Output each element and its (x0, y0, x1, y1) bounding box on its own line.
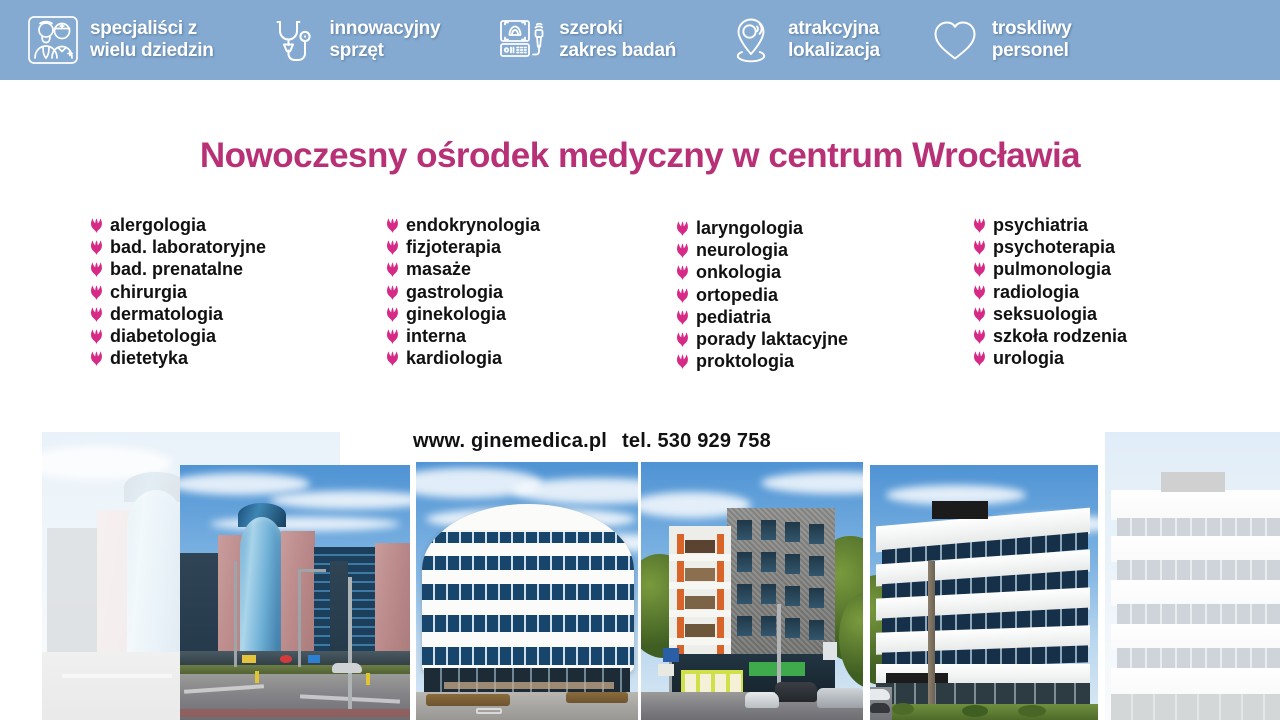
tulip-bullet-icon (386, 218, 399, 233)
list-item[interactable]: chirurgia (90, 281, 386, 303)
tulip-bullet-icon (973, 329, 986, 344)
list-item-label: fizjoterapia (406, 236, 501, 258)
list-item[interactable]: masaże (386, 258, 676, 280)
list-item-label: psychoterapia (993, 236, 1115, 258)
tulip-bullet-icon (676, 265, 689, 280)
list-item[interactable]: kardiologia (386, 347, 676, 369)
list-item[interactable]: proktologia (676, 350, 973, 372)
feature-item-lokalizacja[interactable]: atrakcyjna lokalizacja (724, 13, 880, 67)
list-item[interactable]: dermatologia (90, 303, 386, 325)
list-item[interactable]: porady laktacyjne (676, 328, 973, 350)
feature-item-personel[interactable]: troskliwy personel (928, 13, 1072, 67)
tulip-bullet-icon (676, 354, 689, 369)
specialties-column: laryngologia neurologia onkologia ortope… (676, 214, 973, 373)
contact-overlay: www. ginemedica.pl tel. 530 929 758 (343, 425, 813, 457)
pink-glass-office-building[interactable] (180, 465, 410, 720)
list-item[interactable]: ortopedia (676, 284, 973, 306)
tulip-bullet-icon (386, 240, 399, 255)
feature-item-label: atrakcyjna lokalizacja (788, 18, 880, 63)
list-item-label: dermatologia (110, 303, 223, 325)
list-item-label: radiologia (993, 281, 1079, 303)
list-item-label: neurologia (696, 239, 788, 261)
list-item[interactable]: endokrynologia (386, 214, 676, 236)
tulip-bullet-icon (973, 285, 986, 300)
page-title: Nowoczesny ośrodek medyczny w centrum Wr… (0, 136, 1280, 176)
list-item-label: pediatria (696, 306, 771, 328)
stethoscope-icon (266, 13, 320, 67)
tulip-bullet-icon (973, 218, 986, 233)
feature-banner: specjaliści z wielu dziedzin innowacyjny… (0, 0, 1280, 80)
white-modern-clinic-building-faded (1105, 432, 1280, 720)
building-photo-strip (0, 425, 1280, 720)
tulip-bullet-icon (90, 329, 103, 344)
feature-item-label: innowacyjny sprzęt (330, 18, 441, 63)
list-item[interactable]: neurologia (676, 239, 973, 261)
list-item-label: psychiatria (993, 214, 1088, 236)
tulip-bullet-icon (386, 285, 399, 300)
tulip-bullet-icon (90, 262, 103, 277)
list-item-label: bad. prenatalne (110, 258, 243, 280)
specialties-list: alergologia bad. laboratoryjne bad. pren… (90, 214, 1210, 373)
list-item[interactable]: pulmonologia (973, 258, 1210, 280)
tulip-bullet-icon (90, 285, 103, 300)
list-item[interactable]: bad. laboratoryjne (90, 236, 386, 258)
list-item-label: seksuologia (993, 303, 1097, 325)
list-item-label: laryngologia (696, 217, 803, 239)
list-item[interactable]: laryngologia (676, 217, 973, 239)
list-item[interactable]: bad. prenatalne (90, 258, 386, 280)
two-doctors-icon (26, 13, 80, 67)
feature-item-sprzet[interactable]: innowacyjny sprzęt (266, 13, 441, 67)
list-item-label: masaże (406, 258, 471, 280)
specialties-column: alergologia bad. laboratoryjne bad. pren… (90, 214, 386, 373)
tulip-bullet-icon (90, 218, 103, 233)
specialties-column: endokrynologia fizjoterapia masaże gastr… (386, 214, 676, 373)
list-item[interactable]: alergologia (90, 214, 386, 236)
list-item[interactable]: psychiatria (973, 214, 1210, 236)
list-item-label: alergologia (110, 214, 206, 236)
white-rounded-ovo-building[interactable] (416, 462, 638, 720)
list-item-label: proktologia (696, 350, 794, 372)
list-item-label: ortopedia (696, 284, 778, 306)
list-item-label: dietetyka (110, 347, 188, 369)
feature-item-label: szeroki zakres badań (559, 18, 676, 63)
list-item-label: pulmonologia (993, 258, 1111, 280)
list-item-label: interna (406, 325, 466, 347)
list-item-label: onkologia (696, 261, 781, 283)
tulip-bullet-icon (676, 332, 689, 347)
list-item-label: endokrynologia (406, 214, 540, 236)
list-item-label: gastrologia (406, 281, 503, 303)
list-item-label: diabetologia (110, 325, 216, 347)
ultrasound-machine-icon (495, 13, 549, 67)
heart-icon (928, 13, 982, 67)
list-item[interactable]: seksuologia (973, 303, 1210, 325)
tulip-bullet-icon (386, 351, 399, 366)
tulip-bullet-icon (676, 221, 689, 236)
list-item[interactable]: psychoterapia (973, 236, 1210, 258)
list-item[interactable]: interna (386, 325, 676, 347)
list-item[interactable]: gastrologia (386, 281, 676, 303)
phone-text[interactable]: tel. 530 929 758 (614, 425, 813, 457)
list-item-label: chirurgia (110, 281, 187, 303)
list-item[interactable]: urologia (973, 347, 1210, 369)
list-item[interactable]: pediatria (676, 306, 973, 328)
list-item-label: kardiologia (406, 347, 502, 369)
feature-item-label: specjaliści z wielu dziedzin (90, 18, 214, 63)
tulip-bullet-icon (973, 351, 986, 366)
tulip-bullet-icon (386, 262, 399, 277)
tulip-bullet-icon (90, 307, 103, 322)
location-pin-icon (724, 13, 778, 67)
list-item[interactable]: fizjoterapia (386, 236, 676, 258)
tulip-bullet-icon (676, 243, 689, 258)
list-item[interactable]: diabetologia (90, 325, 386, 347)
feature-item-specjalisci[interactable]: specjaliści z wielu dziedzin (26, 13, 214, 67)
list-item[interactable]: dietetyka (90, 347, 386, 369)
feature-item-label: troskliwy personel (992, 18, 1072, 63)
list-item[interactable]: onkologia (676, 261, 973, 283)
list-item-label: szkoła rodzenia (993, 325, 1127, 347)
tulip-bullet-icon (676, 288, 689, 303)
list-item[interactable]: szkoła rodzenia (973, 325, 1210, 347)
tulip-bullet-icon (676, 310, 689, 325)
tulip-bullet-icon (90, 351, 103, 366)
tulip-bullet-icon (973, 262, 986, 277)
list-item-label: ginekologia (406, 303, 506, 325)
tulip-bullet-icon (386, 329, 399, 344)
tulip-bullet-icon (386, 307, 399, 322)
tulip-bullet-icon (973, 307, 986, 322)
specialties-column: psychiatria psychoterapia pulmonologia r… (973, 214, 1210, 373)
poster-page: specjaliści z wielu dziedzin innowacyjny… (0, 0, 1280, 720)
list-item[interactable]: ginekologia (386, 303, 676, 325)
tulip-bullet-icon (90, 240, 103, 255)
white-modern-clinic-building[interactable] (870, 465, 1098, 720)
feature-item-zakres-badan[interactable]: szeroki zakres badań (495, 13, 676, 67)
list-item-label: bad. laboratoryjne (110, 236, 266, 258)
list-item-label: porady laktacyjne (696, 328, 848, 350)
list-item[interactable]: radiologia (973, 281, 1210, 303)
grey-stone-apartment-building[interactable] (641, 462, 863, 720)
list-item-label: urologia (993, 347, 1064, 369)
website-text[interactable]: www. ginemedica.pl (343, 425, 611, 457)
tulip-bullet-icon (973, 240, 986, 255)
